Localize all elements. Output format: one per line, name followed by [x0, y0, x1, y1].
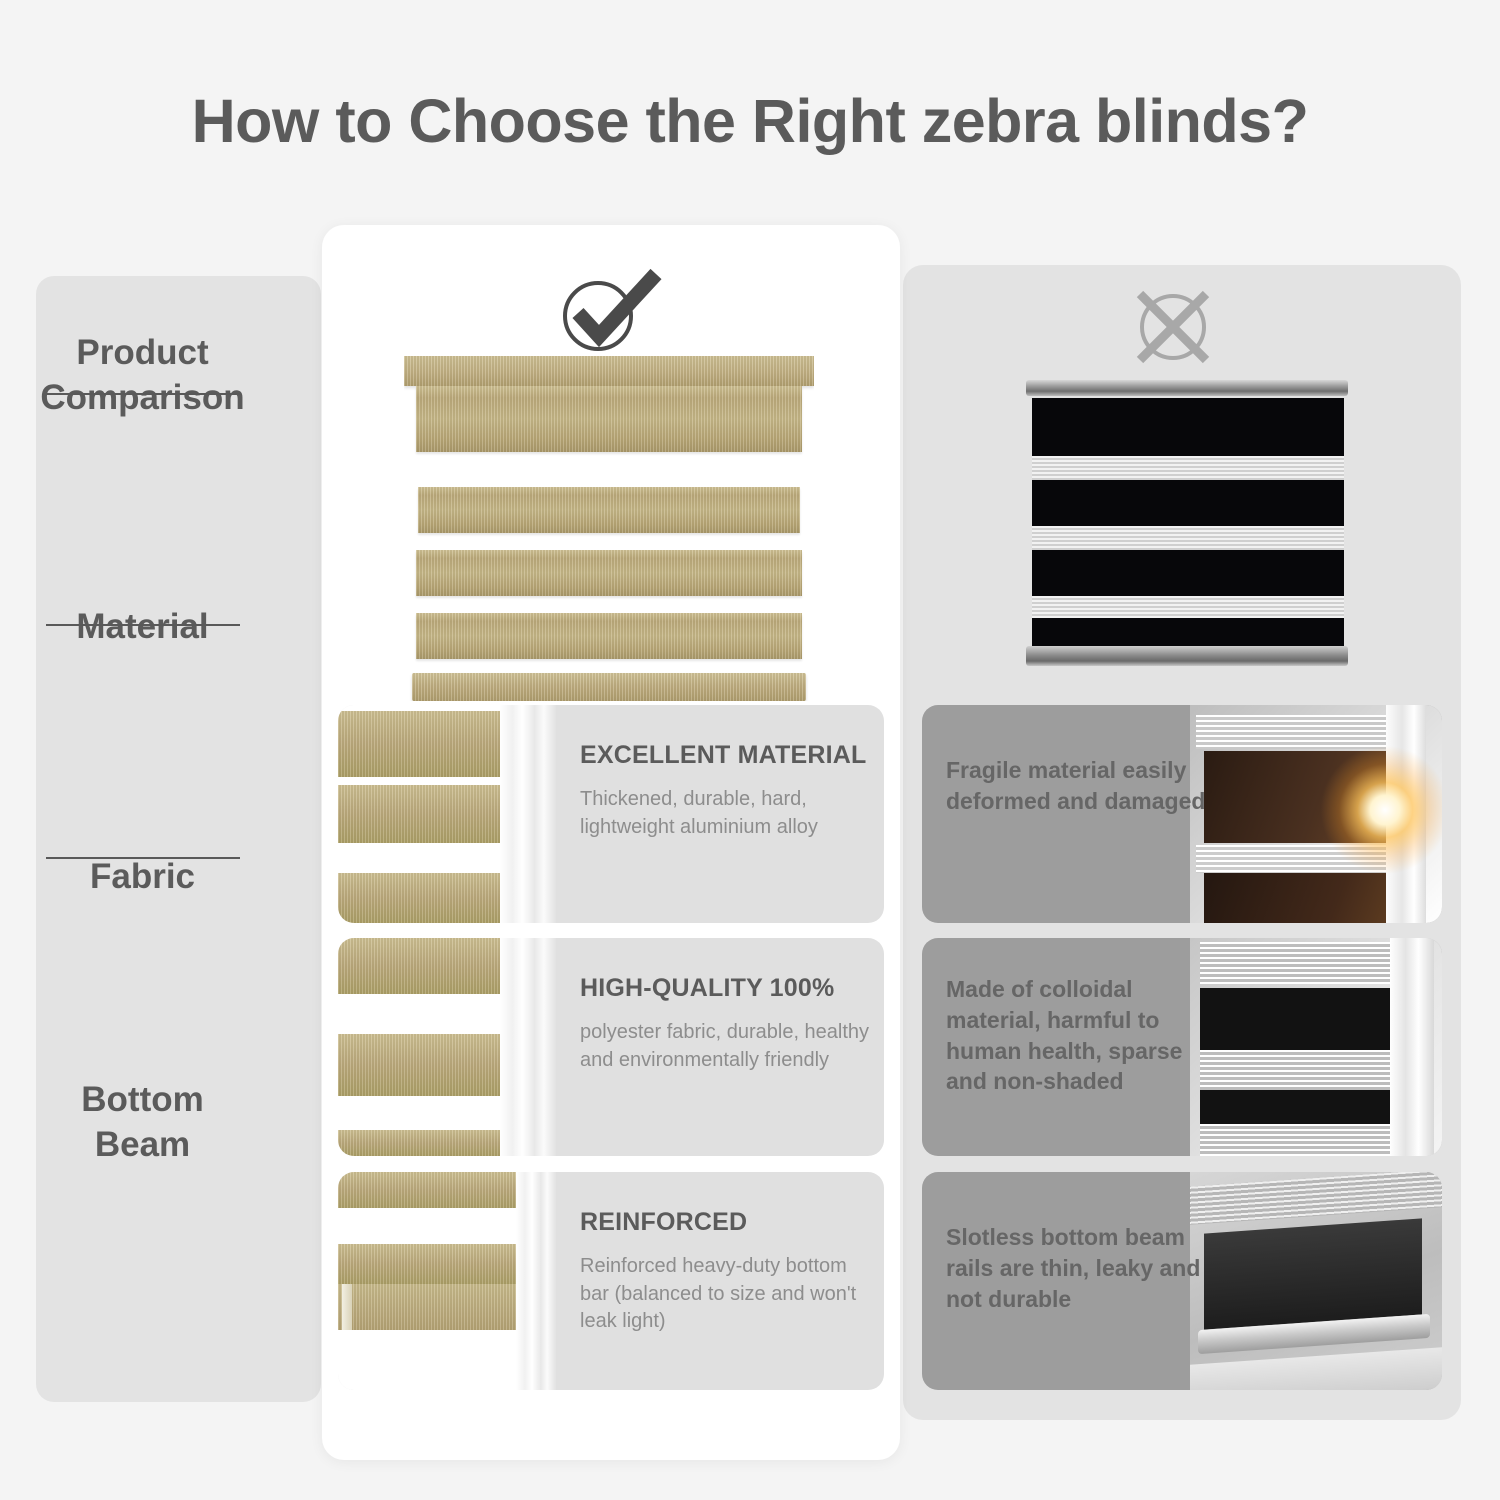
blind-slat [416, 386, 802, 452]
label-divider [46, 857, 240, 859]
window-frame [500, 705, 556, 923]
blind-band [338, 1130, 506, 1156]
page-title: How to Choose the Right zebra blinds? [0, 86, 1500, 156]
blind-photo-body [338, 705, 506, 923]
blind-band [338, 785, 506, 843]
bad-feature-card-bottom-beam: Slotless bottom beam rails are thin, lea… [922, 1172, 1442, 1390]
sun-flare [1320, 745, 1442, 875]
bad-feature-text: Made of colloidal material, harmful to h… [946, 974, 1218, 1097]
blind-band [338, 1172, 526, 1208]
window-frame [500, 938, 556, 1156]
blind-sheer-band [1032, 456, 1344, 480]
feature-heading: HIGH-QUALITY 100% [580, 974, 870, 1003]
blind-photo-body [338, 938, 506, 1156]
sheer-stripes [1196, 715, 1396, 749]
window-frame [1390, 938, 1434, 1156]
bad-hero-blind-image [1022, 380, 1352, 670]
feature-body: Thickened, durable, hard, lightweight al… [580, 786, 870, 841]
good-feature-photo [338, 938, 556, 1156]
blind-bottom-bar [338, 1284, 526, 1330]
bad-feature-photo [1190, 1172, 1442, 1390]
dark-panel [1200, 988, 1400, 1050]
dark-panel [1204, 873, 1390, 923]
sheer-stripes [1200, 942, 1400, 984]
sheer-stripes [1190, 1172, 1442, 1225]
bad-feature-text: Fragile material easily deformed and dam… [946, 755, 1218, 817]
category-label-text: Bottom Beam [81, 1078, 203, 1168]
category-label-material: Material [0, 505, 285, 750]
feature-body: Reinforced heavy-duty bottom bar (balanc… [580, 1253, 870, 1336]
window-sill [1190, 1347, 1442, 1390]
category-label-fabric: Fabric [0, 755, 285, 1000]
category-label-text: Fabric [90, 855, 195, 900]
bad-feature-card-material: Fragile material easily deformed and dam… [922, 705, 1442, 923]
good-feature-card-material: EXCELLENT MATERIAL Thickened, durable, h… [338, 705, 884, 923]
good-feature-photo [338, 705, 556, 923]
check-circle-icon [556, 268, 664, 354]
dark-panel [1200, 1090, 1400, 1124]
blind-slat [416, 613, 802, 659]
good-feature-card-fabric: HIGH-QUALITY 100% polyester fabric, dura… [338, 938, 884, 1156]
sheer-stripes [1200, 1050, 1400, 1090]
category-label-bottom-beam: Bottom Beam [0, 1000, 285, 1245]
category-label-product-comparison: Product Comparison [0, 276, 285, 476]
good-feature-text: REINFORCED Reinforced heavy-duty bottom … [556, 1172, 884, 1390]
feature-heading: EXCELLENT MATERIAL [580, 741, 870, 770]
blind-band [338, 1034, 506, 1096]
good-feature-text: HIGH-QUALITY 100% polyester fabric, dura… [556, 938, 884, 1156]
blind-band [338, 873, 506, 923]
blind-sheer-band [1032, 596, 1344, 618]
blind-slat [416, 550, 802, 596]
good-feature-card-bottom-beam: REINFORCED Reinforced heavy-duty bottom … [338, 1172, 884, 1390]
bad-feature-text: Slotless bottom beam rails are thin, lea… [946, 1222, 1218, 1314]
bad-feature-photo [1190, 938, 1442, 1156]
good-feature-photo [338, 1172, 556, 1390]
good-hero-blind-image [404, 356, 814, 701]
blind-band [338, 1244, 526, 1284]
label-divider [46, 624, 240, 626]
feature-body: polyester fabric, durable, healthy and e… [580, 1019, 870, 1074]
category-label-text: Product Comparison [40, 331, 244, 421]
blind-photo-body [338, 1172, 526, 1390]
blind-bottom-rail [412, 673, 806, 701]
blind-dark-band [1032, 398, 1344, 456]
blind-slat [418, 487, 800, 533]
bad-feature-card-fabric: Made of colloidal material, harmful to h… [922, 938, 1442, 1156]
cross-circle-icon [1130, 282, 1216, 368]
blind-dark-band [1032, 480, 1344, 526]
dark-panel [1204, 1218, 1422, 1329]
category-label-text: Material [76, 605, 208, 650]
blind-top-rail [1026, 380, 1348, 396]
blind-headrail [404, 356, 814, 386]
good-feature-text: EXCELLENT MATERIAL Thickened, durable, h… [556, 705, 884, 923]
blind-bottom-rail [1026, 646, 1348, 666]
blind-dark-band [1032, 550, 1344, 596]
blind-band [338, 711, 506, 777]
label-divider [46, 393, 240, 395]
blind-sheer-band [1032, 526, 1344, 550]
feature-heading: REINFORCED [580, 1208, 870, 1237]
bad-feature-photo [1190, 705, 1442, 923]
window-frame [516, 1172, 556, 1390]
sheer-stripes [1200, 1124, 1400, 1156]
blind-band [338, 938, 506, 994]
bottom-bar-endcap [342, 1284, 352, 1330]
